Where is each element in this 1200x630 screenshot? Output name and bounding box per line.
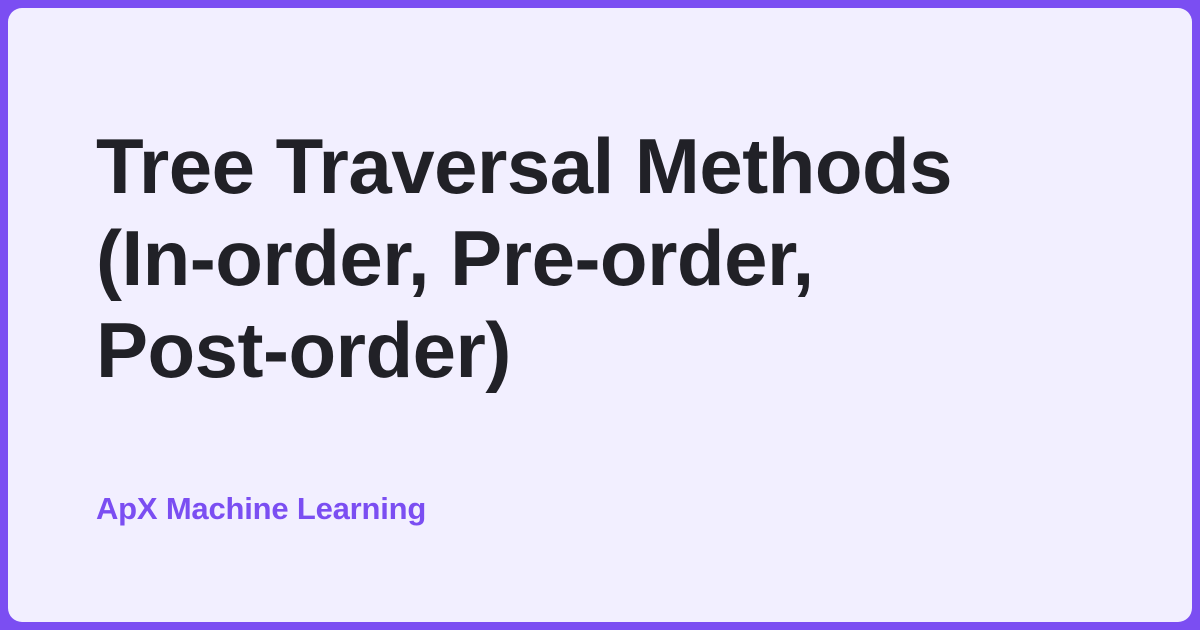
card-surface: Tree Traversal Methods (In-order, Pre-or… [8,8,1192,622]
subtitle-block: ApX Machine Learning [96,492,1112,526]
og-card: Tree Traversal Methods (In-order, Pre-or… [0,0,1200,630]
title-block: Tree Traversal Methods (In-order, Pre-or… [96,120,1112,396]
page-title: Tree Traversal Methods (In-order, Pre-or… [96,120,1076,396]
content-container: Tree Traversal Methods (In-order, Pre-or… [96,8,1112,622]
brand-name: ApX Machine Learning [96,492,1112,526]
